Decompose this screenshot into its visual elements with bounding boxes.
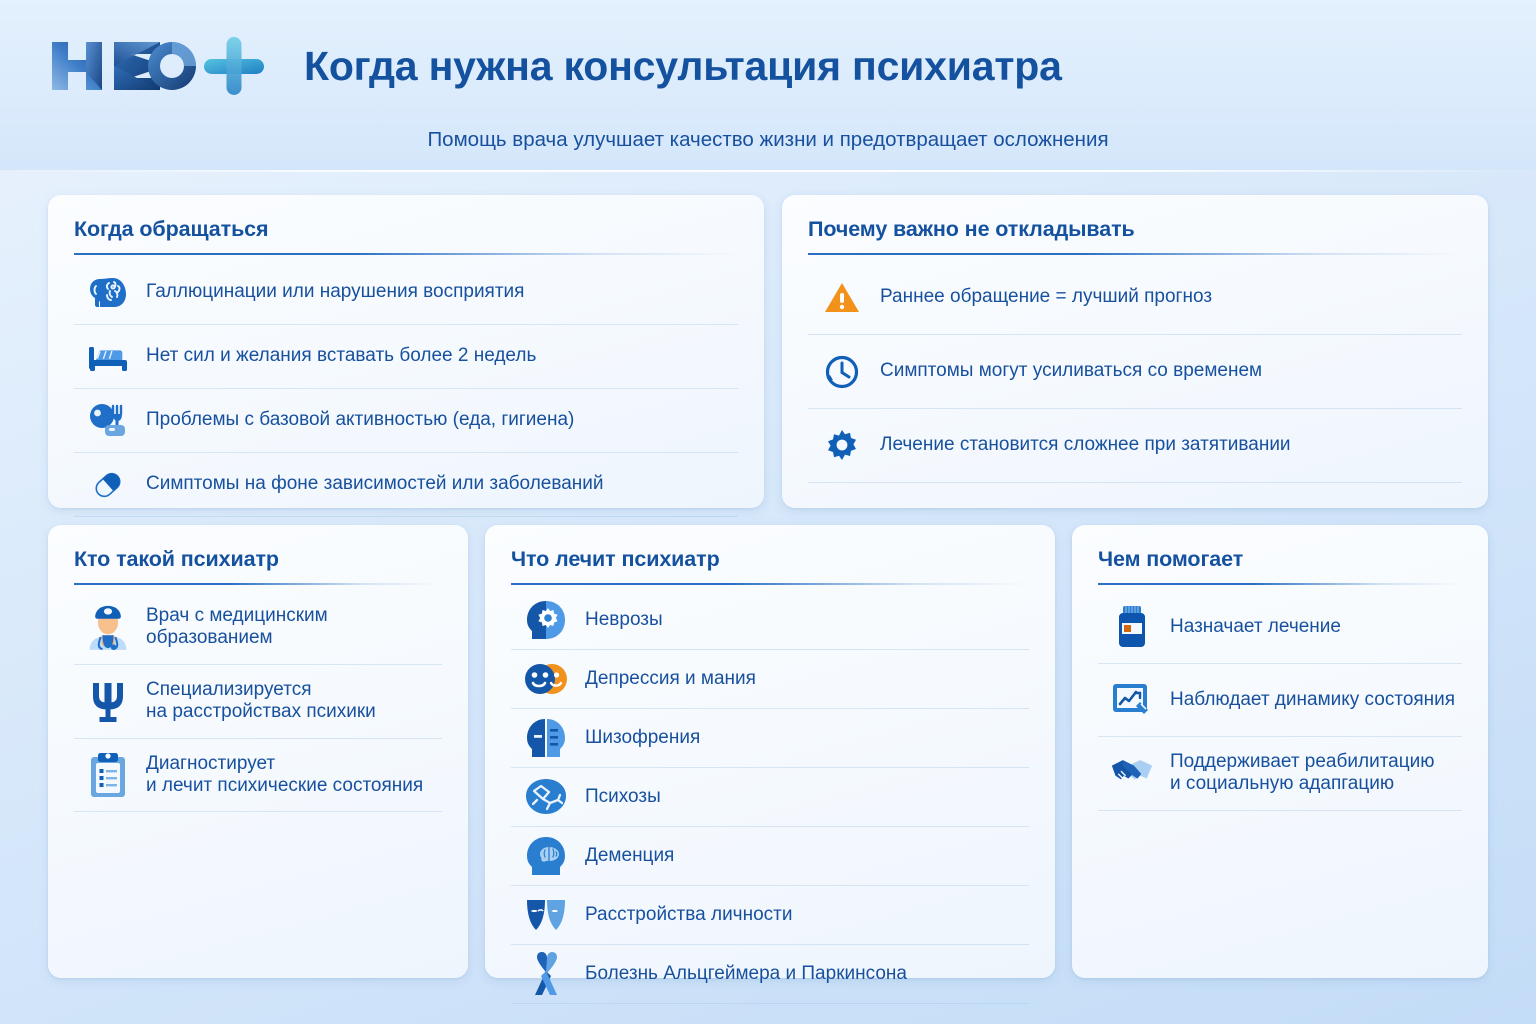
list-item-label: Неврозы <box>585 609 663 631</box>
gear-icon <box>820 424 864 468</box>
list-item[interactable]: Шизофрения <box>511 709 1029 768</box>
card-divider <box>1098 583 1462 585</box>
header: Когда нужна консультация психиатра Помощ… <box>0 0 1536 170</box>
card-title: Кто такой психиатр <box>74 547 442 572</box>
list-item-label: Поддерживает реабилитацию и социальную а… <box>1170 751 1435 796</box>
split-head-icon <box>523 715 569 761</box>
list-item-label: Специализируется на расстройствах психик… <box>146 679 376 724</box>
card-when-to-seek-help: Когда обращаться Галлюцинации или наруше… <box>48 195 764 508</box>
medicine-bottle-icon <box>1110 605 1154 649</box>
list-item[interactable]: Симптомы на фоне зависимостей или заболе… <box>74 453 738 517</box>
handshake-icon <box>1110 751 1154 795</box>
psi-icon <box>86 679 130 723</box>
list-item-label: Проблемы с базовой активностью (еда, гиг… <box>146 409 574 431</box>
brain-icon <box>86 271 130 315</box>
warning-triangle-icon <box>820 276 864 320</box>
card-who-is-psychiatrist: Кто такой психиатр Врач с медицинским об… <box>48 525 468 978</box>
card-item-list: Галлюцинации или нарушения восприятия Не… <box>74 261 738 517</box>
list-item-label: Симптомы на фоне зависимостей или заболе… <box>146 473 604 495</box>
list-item[interactable]: Специализируется на расстройствах психик… <box>74 665 442 739</box>
head-gear-icon <box>523 597 569 643</box>
list-item-label: Нет сил и желания вставать более 2 недел… <box>146 345 536 367</box>
card-title: Почему важно не откладывать <box>808 217 1462 242</box>
list-item[interactable]: Симптомы могут усиливаться со временем <box>808 335 1462 409</box>
list-item[interactable]: Проблемы с базовой активностью (еда, гиг… <box>74 389 738 453</box>
list-item-label: Расстройства личности <box>585 904 792 926</box>
neo-plus-logo <box>48 34 278 98</box>
clock-icon <box>820 350 864 394</box>
tangled-mind-icon <box>523 774 569 820</box>
list-item[interactable]: Раннее обращение = лучший прогноз <box>808 261 1462 335</box>
list-item-label: Назначает лечение <box>1170 616 1341 638</box>
doctor-icon <box>86 605 130 649</box>
list-item[interactable]: Галлюцинации или нарушения восприятия <box>74 261 738 325</box>
list-item[interactable]: Лечение становится сложнее при затятиван… <box>808 409 1462 483</box>
theatre-masks-icon <box>523 892 569 938</box>
list-item[interactable]: Назначает лечение <box>1098 591 1462 664</box>
list-item-label: Психозы <box>585 786 661 808</box>
list-item-label: Деменция <box>585 845 674 867</box>
card-title: Что лечит психиатр <box>511 547 1029 572</box>
list-item[interactable]: Деменция <box>511 827 1029 886</box>
awareness-ribbon-icon <box>523 951 569 997</box>
hygiene-icon <box>86 399 130 443</box>
list-item-label: Депрессия и мания <box>585 668 756 690</box>
card-item-list: Назначает лечение Наблюдает динамику сос… <box>1098 591 1462 811</box>
list-item[interactable]: Поддерживает реабилитацию и социальную а… <box>1098 737 1462 811</box>
list-item-label: Раннее обращение = лучший прогноз <box>880 286 1212 308</box>
head-brain-icon <box>523 833 569 879</box>
list-item[interactable]: Расстройства личности <box>511 886 1029 945</box>
card-item-list: Раннее обращение = лучший прогноз Симпто… <box>808 261 1462 483</box>
list-item[interactable]: Психозы <box>511 768 1029 827</box>
page-title: Когда нужна консультация психиатра <box>304 46 1062 87</box>
chart-board-icon <box>1110 678 1154 722</box>
card-title: Чем помогает <box>1098 547 1462 572</box>
list-item[interactable]: Диагностирует и лечит психические состоя… <box>74 739 442 813</box>
card-item-list: Врач с медицинским образованием Специали… <box>74 591 442 812</box>
two-masks-faces-icon <box>523 656 569 702</box>
list-item-label: Галлюцинации или нарушения восприятия <box>146 281 524 303</box>
list-item[interactable]: Депрессия и мания <box>511 650 1029 709</box>
list-item-label: Диагностирует и лечит психические состоя… <box>146 753 423 798</box>
header-divider <box>0 170 1536 172</box>
list-item[interactable]: Неврозы <box>511 591 1029 650</box>
card-divider <box>511 583 1029 585</box>
list-item[interactable]: Нет сил и желания вставать более 2 недел… <box>74 325 738 389</box>
list-item[interactable]: Наблюдает динамику состояния <box>1098 664 1462 737</box>
list-item[interactable]: Болезнь Альцгеймера и Паркинсона <box>511 945 1029 1004</box>
pill-icon <box>86 463 130 507</box>
card-divider <box>74 253 738 255</box>
list-item-label: Шизофрения <box>585 727 700 749</box>
list-item[interactable]: Врач с медицинским образованием <box>74 591 442 665</box>
list-item-label: Лечение становится сложнее при затятиван… <box>880 434 1291 456</box>
list-item-label: Болезнь Альцгеймера и Паркинсона <box>585 963 907 985</box>
list-item-label: Врач с медицинским образованием <box>146 605 328 650</box>
list-item-label: Симптомы могут усиливаться со временем <box>880 360 1262 382</box>
page-subtitle: Помощь врача улучшает качество жизни и п… <box>0 128 1536 152</box>
card-how-helps: Чем помогает Назначает лечение Наблюдает… <box>1072 525 1488 978</box>
card-item-list: Неврозы Депрессия и мания Шизофрения Пси… <box>511 591 1029 1004</box>
bed-icon <box>86 335 130 379</box>
card-what-psychiatrist-treats: Что лечит психиатр Неврозы Депрессия и м… <box>485 525 1055 978</box>
header-row: Когда нужна консультация психиатра <box>48 26 1062 106</box>
card-why-not-delay: Почему важно не откладывать Раннее обращ… <box>782 195 1488 508</box>
clipboard-icon <box>86 753 130 797</box>
infographic-page: Когда нужна консультация психиатра Помощ… <box>0 0 1536 1024</box>
list-item-label: Наблюдает динамику состояния <box>1170 689 1455 711</box>
card-divider <box>808 253 1462 255</box>
card-title: Когда обращаться <box>74 217 738 242</box>
card-divider <box>74 583 442 585</box>
